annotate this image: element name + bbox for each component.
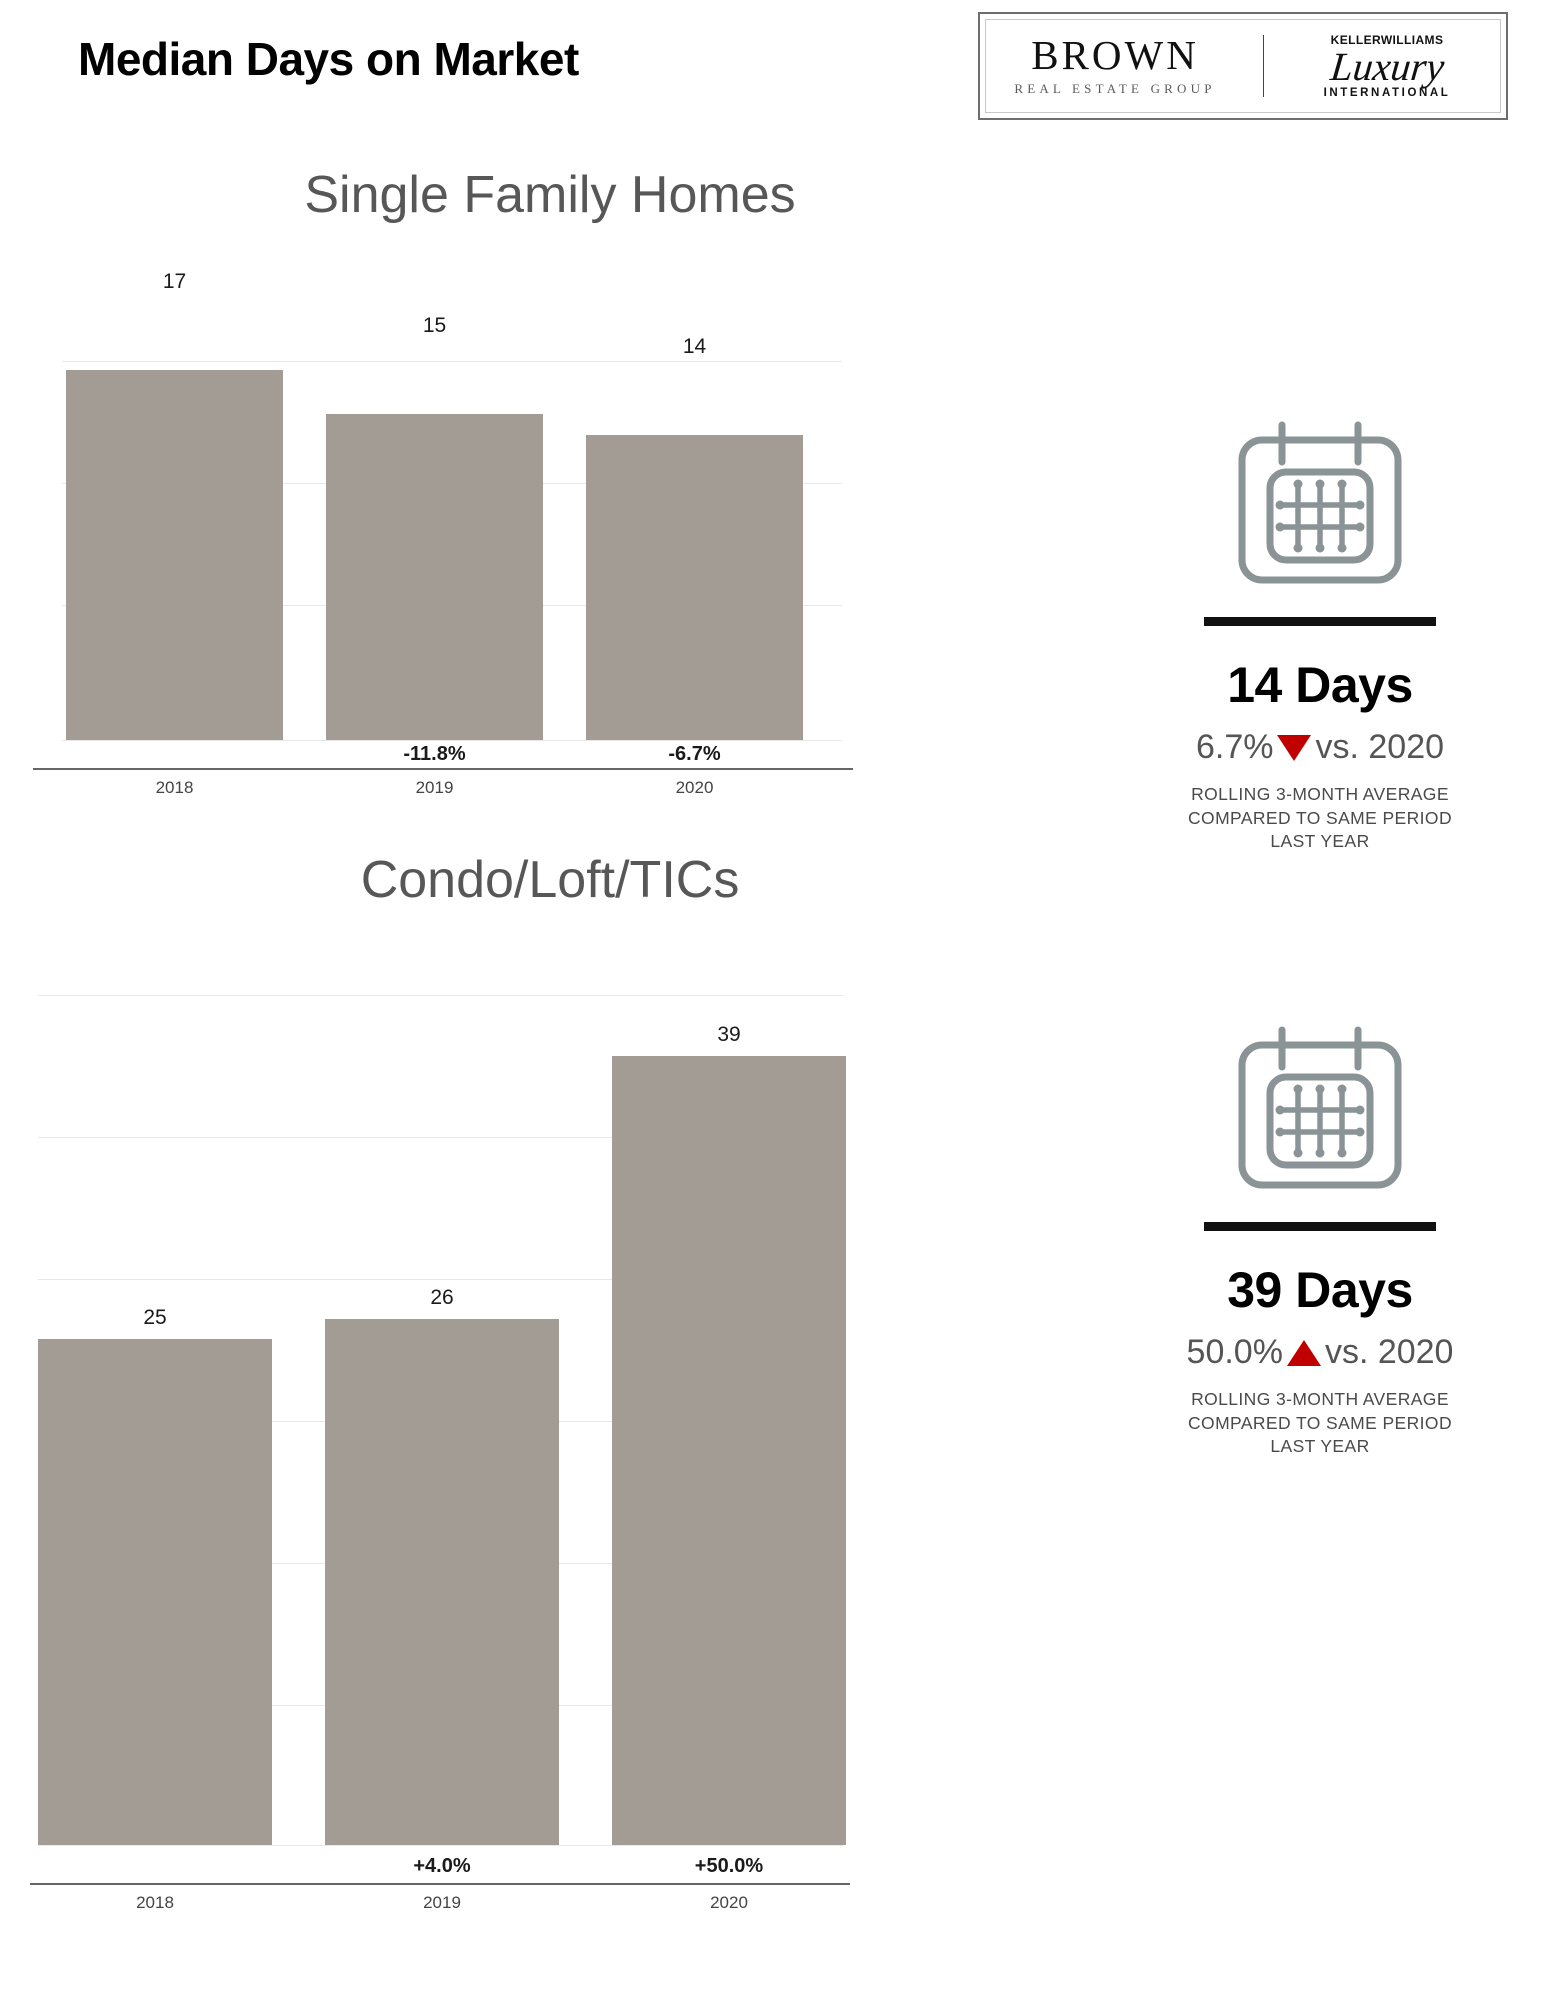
bar-value-2018: 25 (38, 1306, 272, 1330)
change-label-2019: +4.0% (325, 1855, 559, 1878)
chart-single-family-homes: 17 15 14 (62, 305, 842, 740)
stat-panel-single-family: 14 Days 6.7% vs. 2020 ROLLING 3-MONTH AV… (1155, 420, 1485, 854)
bar-2019 (325, 1319, 559, 1845)
axis-label-2019: 2019 (326, 778, 543, 798)
bar-value-2020: 14 (586, 335, 803, 359)
stat-panel-condo-loft-tics: 39 Days 50.0% vs. 2020 ROLLING 3-MONTH A… (1155, 1025, 1485, 1459)
stat-caption-line-3: LAST YEAR (1155, 1435, 1485, 1459)
logo-brown-block: BROWN REAL ESTATE GROUP (992, 35, 1247, 97)
stat-caption-line-1: ROLLING 3-MONTH AVERAGE (1155, 783, 1485, 807)
stat-change-row: 6.7% vs. 2020 (1155, 728, 1485, 767)
bar-2020 (586, 435, 803, 740)
change-label-2019: -11.8% (326, 743, 543, 766)
stat-caption-line-1: ROLLING 3-MONTH AVERAGE (1155, 1388, 1485, 1412)
gridline (38, 1845, 843, 1846)
gridline (38, 995, 843, 996)
stat-change-suffix: vs. 2020 (1315, 728, 1444, 767)
gridline (62, 740, 842, 741)
stat-divider-rule (1204, 1222, 1436, 1231)
page-header: Median Days on Market BROWN REAL ESTATE … (0, 0, 1545, 140)
bar-value-2019: 26 (325, 1286, 559, 1310)
page-title: Median Days on Market (78, 32, 579, 86)
axis-label-2018: 2018 (38, 1893, 272, 1913)
stat-change-value: 6.7% (1196, 728, 1274, 767)
gridline (62, 361, 842, 362)
stat-caption-line-3: LAST YEAR (1155, 830, 1485, 854)
axis-label-2020: 2020 (612, 1893, 846, 1913)
logo-brand-name: BROWN (992, 35, 1239, 76)
triangle-down-icon (1277, 735, 1311, 761)
chart-axis-line (33, 768, 853, 770)
stat-caption-line-2: COMPARED TO SAME PERIOD (1155, 1412, 1485, 1436)
stat-caption-line-2: COMPARED TO SAME PERIOD (1155, 807, 1485, 831)
stat-caption: ROLLING 3-MONTH AVERAGE COMPARED TO SAME… (1155, 783, 1485, 854)
bar-2019 (326, 414, 543, 740)
axis-label-2018: 2018 (66, 778, 283, 798)
calendar-icon (1220, 420, 1420, 595)
section-title-condo-loft-tics: Condo/Loft/TICs (0, 850, 1100, 910)
logo-brand-subtitle: REAL ESTATE GROUP (992, 81, 1239, 97)
bar-2018 (66, 370, 283, 740)
section-title-single-family: Single Family Homes (0, 165, 1100, 225)
logo-luxury-script: Luxury (1278, 48, 1497, 86)
axis-label-2020: 2020 (586, 778, 803, 798)
stat-change-value: 50.0% (1187, 1333, 1283, 1372)
stat-change-row: 50.0% vs. 2020 (1155, 1333, 1485, 1372)
bar-value-2019: 15 (326, 314, 543, 338)
logo-inner-frame: BROWN REAL ESTATE GROUP KELLERWILLIAMS L… (985, 19, 1501, 113)
calendar-icon (1220, 1025, 1420, 1200)
stat-headline: 14 Days (1155, 656, 1485, 714)
stat-headline: 39 Days (1155, 1261, 1485, 1319)
bar-value-2020: 39 (612, 1023, 846, 1047)
logo-kw-block: KELLERWILLIAMS Luxury INTERNATIONAL (1280, 33, 1495, 99)
axis-label-2019: 2019 (325, 1893, 559, 1913)
triangle-up-icon (1287, 1340, 1321, 1366)
report-page: Median Days on Market BROWN REAL ESTATE … (0, 0, 1545, 2000)
change-label-2020: +50.0% (612, 1855, 846, 1878)
stat-divider-rule (1204, 617, 1436, 626)
company-logo: BROWN REAL ESTATE GROUP KELLERWILLIAMS L… (978, 12, 1508, 120)
chart-condo-loft-tics: 25 26 39 (38, 995, 843, 1845)
logo-divider (1263, 35, 1264, 97)
bar-2018 (38, 1339, 272, 1845)
change-label-2020: -6.7% (586, 743, 803, 766)
chart-axis-line (30, 1883, 850, 1885)
stat-change-suffix: vs. 2020 (1325, 1333, 1454, 1372)
stat-caption: ROLLING 3-MONTH AVERAGE COMPARED TO SAME… (1155, 1388, 1485, 1459)
bar-value-2018: 17 (66, 270, 283, 294)
bar-2020 (612, 1056, 846, 1845)
